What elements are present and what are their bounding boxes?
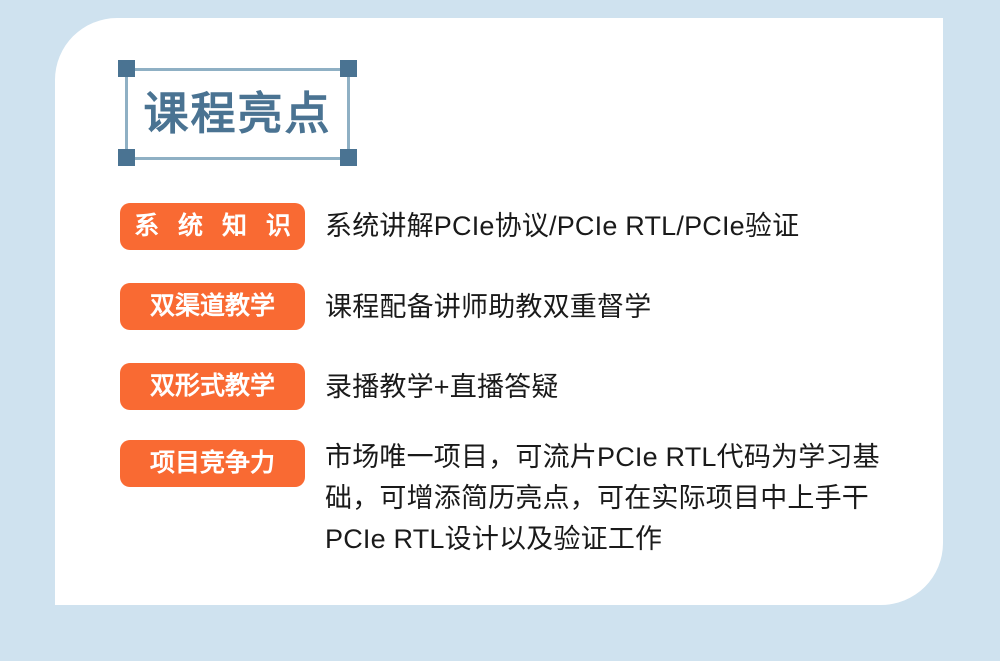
feature-badge-project-competitiveness: 项目竞争力 bbox=[120, 440, 305, 487]
feature-row: 双形式教学 录播教学+直播答疑 bbox=[120, 363, 920, 410]
feature-badge-dual-channel-teaching: 双渠道教学 bbox=[120, 283, 305, 330]
feature-list: 系 统 知 识 系统讲解PCIe协议/PCIe RTL/PCIe验证 双渠道教学… bbox=[120, 203, 920, 560]
feature-description: 市场唯一项目，可流片PCIe RTL代码为学习基础，可增添简历亮点，可在实际项目… bbox=[325, 437, 920, 560]
section-title-block: 课程亮点 bbox=[120, 68, 355, 160]
feature-badge-system-knowledge: 系 统 知 识 bbox=[120, 203, 305, 250]
feature-description: 课程配备讲师助教双重督学 bbox=[325, 284, 651, 330]
poster-root: 课程亮点 系 统 知 识 系统讲解PCIe协议/PCIe RTL/PCIe验证 … bbox=[0, 0, 1000, 661]
page-title: 课程亮点 bbox=[120, 68, 355, 160]
feature-row: 双渠道教学 课程配备讲师助教双重督学 bbox=[120, 283, 920, 330]
feature-row: 项目竞争力 市场唯一项目，可流片PCIe RTL代码为学习基础，可增添简历亮点，… bbox=[120, 440, 920, 560]
feature-badge-dual-format-teaching: 双形式教学 bbox=[120, 363, 305, 410]
feature-row: 系 统 知 识 系统讲解PCIe协议/PCIe RTL/PCIe验证 bbox=[120, 203, 920, 250]
feature-description: 系统讲解PCIe协议/PCIe RTL/PCIe验证 bbox=[325, 203, 799, 249]
feature-description: 录播教学+直播答疑 bbox=[325, 364, 559, 410]
